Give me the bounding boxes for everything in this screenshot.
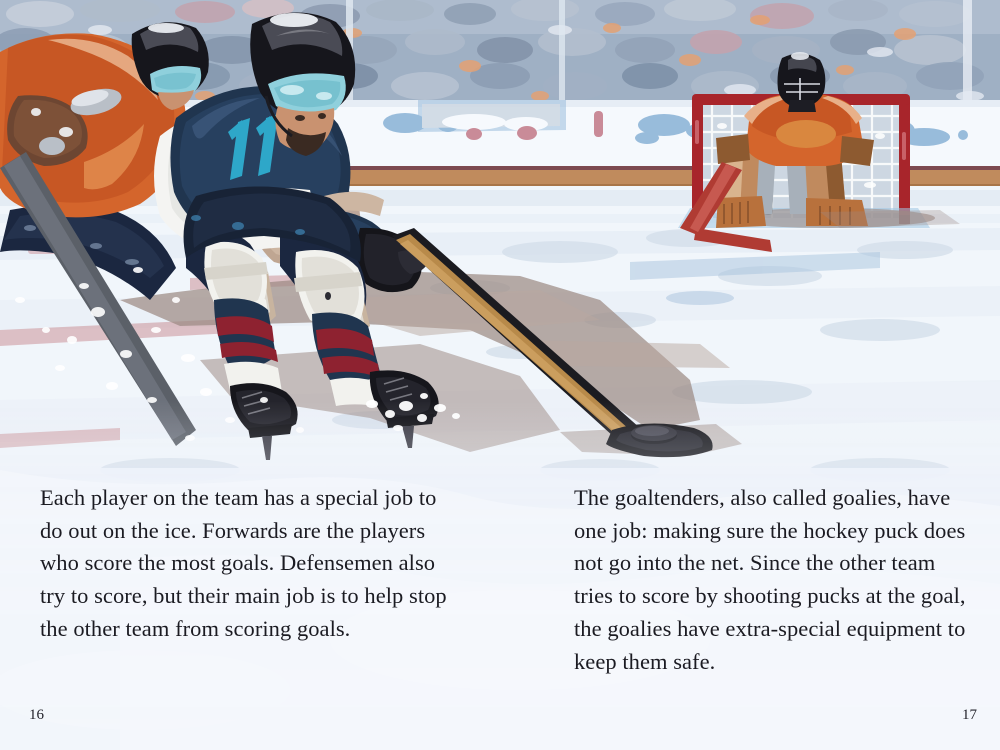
- page-number-left: 16: [29, 707, 44, 724]
- book-page-spread: Each player on the team has a special jo…: [0, 0, 1000, 750]
- body-text-left-column: Each player on the team has a special jo…: [40, 482, 460, 646]
- body-text-right-column: The goaltenders, also called goalies, ha…: [574, 482, 974, 678]
- left-column-paragraph: Each player on the team has a special jo…: [40, 482, 460, 646]
- text-layer: Each player on the team has a special jo…: [0, 0, 1000, 750]
- right-column-paragraph: The goaltenders, also called goalies, ha…: [574, 482, 974, 678]
- page-number-right: 17: [962, 707, 977, 724]
